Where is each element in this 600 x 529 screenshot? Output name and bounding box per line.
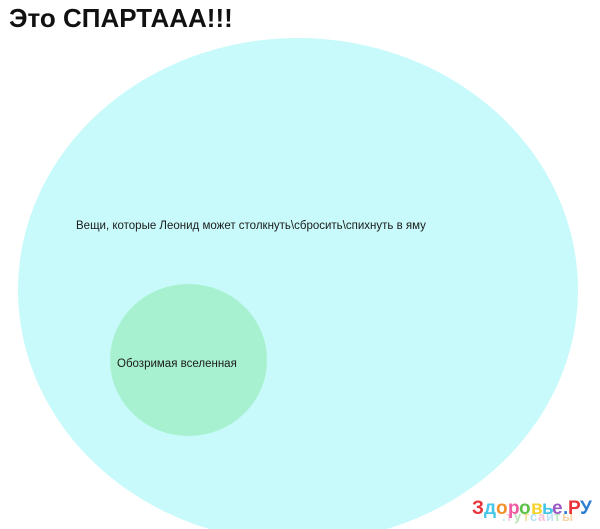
- svg-text:о: о: [519, 498, 531, 519]
- page-title: Это СПАРТААА!!!: [9, 2, 233, 34]
- svg-text:е: е: [552, 498, 563, 519]
- venn-outer-set-shape: [18, 38, 578, 529]
- svg-text:о: о: [496, 498, 508, 519]
- svg-text:р: р: [508, 498, 520, 519]
- meme-image-canvas: Это СПАРТААА!!! Вещи, которые Леонид мож…: [0, 0, 600, 529]
- venn-outer-set-label: Вещи, которые Леонид может столкнуть\сбр…: [76, 219, 426, 233]
- svg-text:З: З: [472, 498, 484, 519]
- venn-inner-set-label: Обозримая вселенная: [117, 357, 237, 371]
- svg-text:У: У: [580, 498, 592, 519]
- site-watermark-logo: . т у т с а й т ы З д о р о в ь е .: [472, 492, 594, 526]
- svg-text:в: в: [531, 498, 543, 519]
- watermark-icon: . т у т с а й т ы З д о р о в ь е .: [472, 492, 594, 526]
- svg-text:д: д: [484, 498, 496, 519]
- venn-diagram: Вещи, которые Леонид может столкнуть\сбр…: [0, 34, 600, 512]
